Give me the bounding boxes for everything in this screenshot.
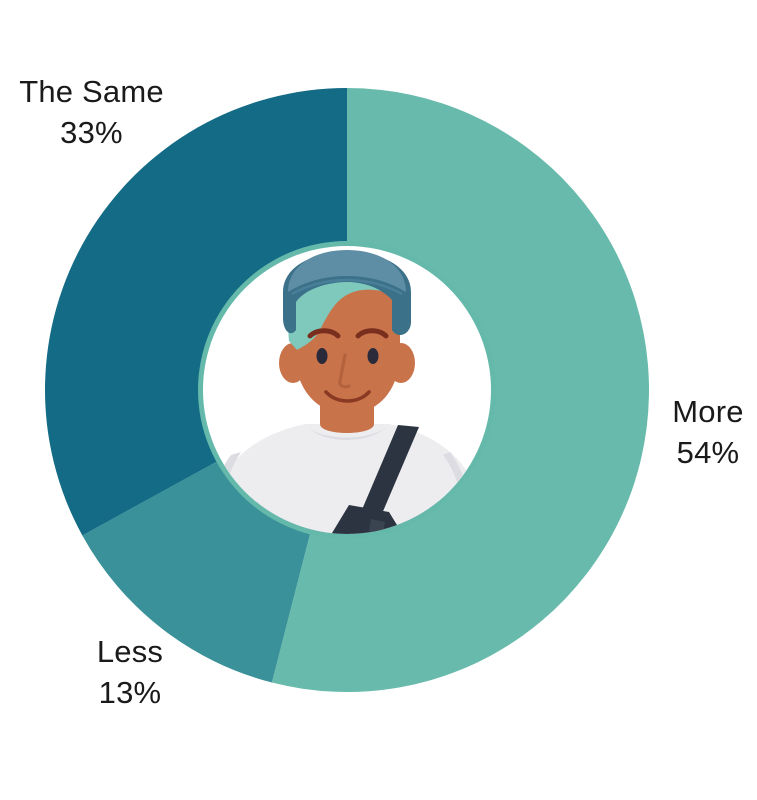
donut-chart: The Same 33% Less 13% More 54% [0, 0, 757, 800]
slice-label-more: More 54% [662, 392, 754, 474]
slice-label-more-value: 54% [662, 433, 754, 474]
slice-label-the-same: The Same 33% [14, 72, 169, 154]
slice-label-less: Less 13% [60, 632, 200, 714]
slice-label-less-name: Less [60, 632, 200, 673]
slice-label-the-same-value: 33% [14, 113, 169, 154]
slice-label-the-same-name: The Same [14, 72, 169, 113]
slice-label-less-value: 13% [60, 673, 200, 714]
avatar-eye-right [368, 348, 379, 364]
slice-label-more-name: More [662, 392, 754, 433]
avatar-eye-left [317, 348, 328, 364]
